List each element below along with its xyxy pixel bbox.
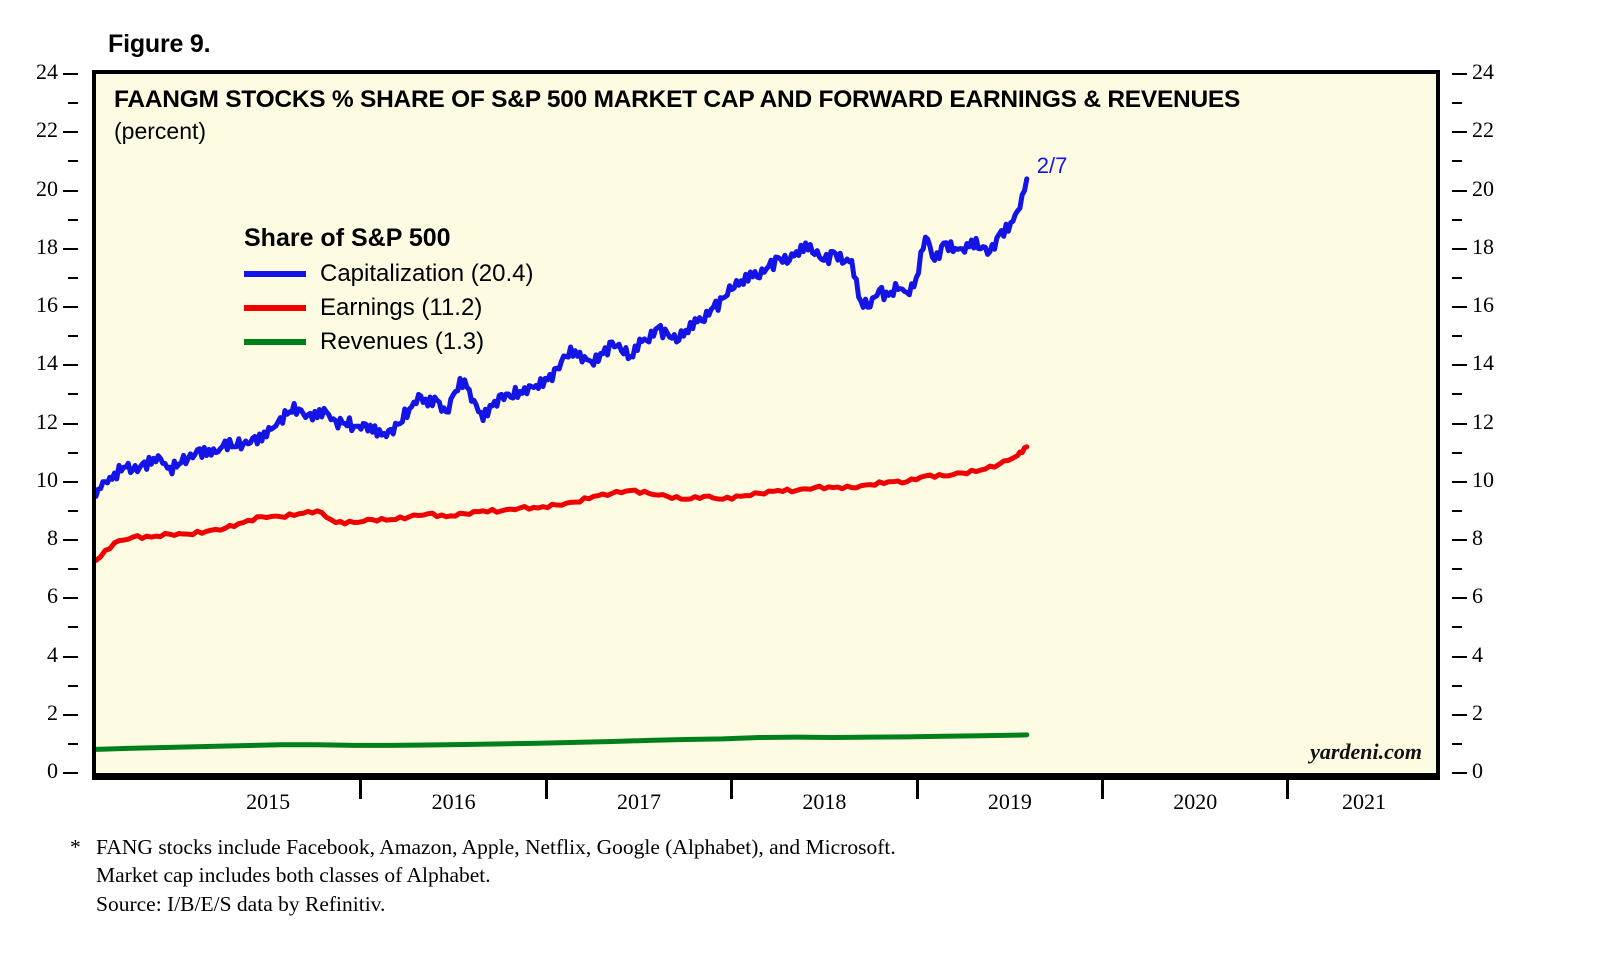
y-tick-right <box>1452 131 1467 133</box>
y-tick-right <box>1452 393 1462 395</box>
y-tick-label-left: 22 <box>36 117 58 143</box>
y-tick-label-left: 6 <box>47 583 58 609</box>
legend-label-capitalization: Capitalization (20.4) <box>320 260 533 288</box>
legend-item-earnings: Earnings (11.2) <box>244 291 533 325</box>
y-tick-right <box>1452 423 1467 425</box>
y-tick-left <box>68 393 78 395</box>
y-tick-right <box>1452 568 1462 570</box>
chart-plot-area: FAANGM STOCKS % SHARE OF S&P 500 MARKET … <box>92 70 1440 777</box>
y-tick-label-left: 16 <box>36 292 58 318</box>
y-tick-right <box>1452 539 1467 541</box>
y-tick-left <box>63 248 78 250</box>
y-tick-right <box>1452 510 1462 512</box>
y-tick-left <box>63 306 78 308</box>
x-tick-mark <box>730 777 733 799</box>
y-tick-label-right: 16 <box>1472 292 1494 318</box>
y-tick-left <box>63 714 78 716</box>
y-tick-left <box>68 277 78 279</box>
y-tick-label-right: 12 <box>1472 409 1494 435</box>
x-tick-mark <box>359 777 362 799</box>
footnote-text-1: FANG stocks include Facebook, Amazon, Ap… <box>96 833 896 861</box>
y-tick-label-left: 12 <box>36 409 58 435</box>
y-tick-left <box>63 597 78 599</box>
y-tick-right <box>1452 626 1462 628</box>
y-tick-left <box>68 102 78 104</box>
y-tick-left <box>68 568 78 570</box>
y-tick-right <box>1452 102 1462 104</box>
y-tick-label-left: 24 <box>36 59 58 85</box>
y-tick-right <box>1452 772 1467 774</box>
y-tick-right <box>1452 481 1467 483</box>
y-tick-right <box>1452 306 1467 308</box>
y-tick-left <box>63 656 78 658</box>
footnote-marker: * <box>70 833 96 861</box>
legend-swatch-capitalization <box>244 271 306 277</box>
chart-lines-svg <box>96 74 1436 773</box>
legend-label-revenues: Revenues (1.3) <box>320 328 484 356</box>
y-tick-label-left: 10 <box>36 467 58 493</box>
y-tick-left <box>68 685 78 687</box>
x-tick-mark <box>916 777 919 799</box>
y-tick-right <box>1452 190 1467 192</box>
y-tick-label-left: 2 <box>47 700 58 726</box>
y-axis-left: 024681012141618202224 <box>22 70 78 777</box>
y-tick-label-left: 14 <box>36 350 58 376</box>
legend-swatch-revenues <box>244 339 306 345</box>
y-axis-right: 024681012141618202224 <box>1452 70 1512 777</box>
y-tick-label-right: 10 <box>1472 467 1494 493</box>
x-tick-label: 2017 <box>617 789 661 815</box>
y-tick-left <box>68 510 78 512</box>
y-tick-label-right: 18 <box>1472 234 1494 260</box>
y-tick-left <box>68 335 78 337</box>
y-tick-label-left: 18 <box>36 234 58 260</box>
y-tick-right <box>1452 364 1467 366</box>
y-tick-label-left: 0 <box>47 758 58 784</box>
x-tick-mark <box>1286 777 1289 799</box>
y-tick-right <box>1452 248 1467 250</box>
figure-label: Figure 9. <box>108 30 210 59</box>
y-tick-left <box>63 131 78 133</box>
y-tick-label-right: 0 <box>1472 758 1483 784</box>
x-tick-label: 2015 <box>246 789 290 815</box>
legend-title: Share of S&P 500 <box>244 224 533 253</box>
footnote-line-2: Market cap includes both classes of Alph… <box>70 861 896 889</box>
footnotes: * FANG stocks include Facebook, Amazon, … <box>70 833 896 918</box>
y-tick-right <box>1452 73 1467 75</box>
y-tick-left <box>68 219 78 221</box>
watermark: yardeni.com <box>1310 739 1422 765</box>
legend-item-capitalization: Capitalization (20.4) <box>244 257 533 291</box>
y-tick-label-right: 14 <box>1472 350 1494 376</box>
legend-label-earnings: Earnings (11.2) <box>320 294 482 322</box>
x-tick-mark <box>545 777 548 799</box>
y-tick-right <box>1452 743 1462 745</box>
y-tick-right <box>1452 597 1467 599</box>
y-tick-right <box>1452 335 1462 337</box>
y-tick-left <box>63 539 78 541</box>
y-tick-label-right: 4 <box>1472 642 1483 668</box>
x-tick-label: 2016 <box>432 789 476 815</box>
x-tick-label: 2018 <box>802 789 846 815</box>
y-tick-label-right: 20 <box>1472 176 1494 202</box>
y-tick-left <box>68 160 78 162</box>
chart-legend: Share of S&P 500 Capitalization (20.4) E… <box>244 224 533 359</box>
y-tick-label-right: 24 <box>1472 59 1494 85</box>
y-tick-right <box>1452 219 1462 221</box>
x-tick-label: 2021 <box>1342 789 1386 815</box>
x-tick-mark <box>1101 777 1104 799</box>
y-tick-left <box>63 772 78 774</box>
y-tick-left <box>63 190 78 192</box>
y-tick-right <box>1452 685 1462 687</box>
series-line-revenues <box>96 735 1027 750</box>
y-tick-label-right: 6 <box>1472 583 1483 609</box>
y-tick-label-right: 22 <box>1472 117 1494 143</box>
end-value-annotation: 2/7 <box>1037 153 1068 179</box>
y-tick-left <box>63 364 78 366</box>
footnote-line-1: * FANG stocks include Facebook, Amazon, … <box>70 833 896 861</box>
y-tick-right <box>1452 656 1467 658</box>
x-tick-label: 2020 <box>1173 789 1217 815</box>
y-tick-left <box>68 452 78 454</box>
legend-item-revenues: Revenues (1.3) <box>244 325 533 359</box>
y-tick-left <box>68 626 78 628</box>
chart-subtitle: (percent) <box>114 118 206 145</box>
series-line-capitalization <box>96 179 1027 496</box>
y-tick-label-right: 8 <box>1472 525 1483 551</box>
y-tick-right <box>1452 452 1462 454</box>
x-axis: 2015201620172018201920202021 <box>92 777 1440 825</box>
legend-swatch-earnings <box>244 305 306 311</box>
series-line-earnings <box>96 447 1027 561</box>
y-tick-label-left: 8 <box>47 525 58 551</box>
y-tick-left <box>68 743 78 745</box>
footnote-line-3: Source: I/B/E/S data by Refinitiv. <box>70 890 896 918</box>
y-tick-left <box>63 481 78 483</box>
y-tick-label-left: 20 <box>36 176 58 202</box>
y-tick-left <box>63 423 78 425</box>
x-axis-baseline <box>92 777 1440 780</box>
y-tick-label-right: 2 <box>1472 700 1483 726</box>
y-tick-right <box>1452 277 1462 279</box>
chart-title: FAANGM STOCKS % SHARE OF S&P 500 MARKET … <box>114 86 1240 114</box>
y-tick-right <box>1452 714 1467 716</box>
y-tick-right <box>1452 160 1462 162</box>
y-tick-left <box>63 73 78 75</box>
y-tick-label-left: 4 <box>47 642 58 668</box>
x-tick-label: 2019 <box>988 789 1032 815</box>
